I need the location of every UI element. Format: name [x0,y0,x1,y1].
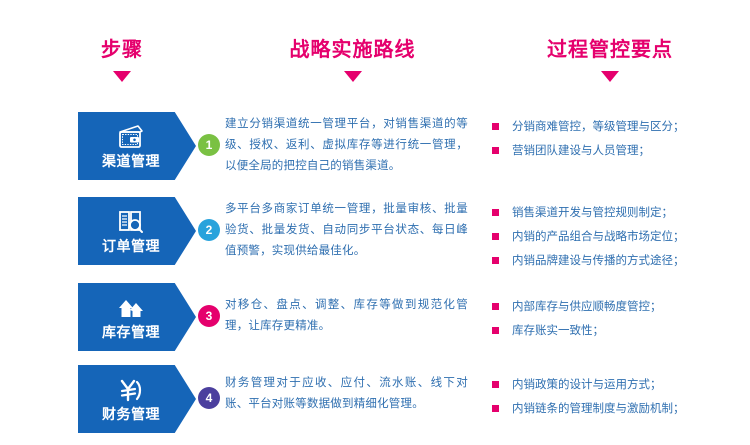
list-item-text: 内部库存与供应顺畅度管控； [512,301,662,313]
control-points-list: 内部库存与供应顺畅度管控； 库存账实一致性； [492,295,742,343]
list-item: 内销链条的管理制度与激励机制； [492,397,742,421]
step-number-badge: 3 [198,305,220,327]
step-box-finance[interactable]: 财务管理 [78,365,196,433]
list-item-text: 内销品牌建设与传播的方式途径； [512,255,685,267]
step-label: 财务管理 [102,406,160,422]
list-item: 分销商难管控，等级管理与区分； [492,115,742,139]
header-column-steps: 步骤 [62,38,182,82]
list-item-text: 销售渠道开发与管控规则制定； [512,207,673,219]
currency-yuan-icon [116,376,146,404]
step-box-inventory[interactable]: 库存管理 [78,283,196,351]
step-box-order[interactable]: 订单管理 [78,197,196,265]
square-bullet-icon [492,381,499,388]
step-number-badge: 1 [198,134,220,156]
list-item-text: 内销政策的设计与运用方式； [512,379,662,391]
square-bullet-icon [492,123,499,130]
warehouse-icon [116,294,146,322]
square-bullet-icon [492,303,499,310]
header-title-control: 过程管控要点 [480,38,740,62]
list-item-text: 库存账实一致性； [512,325,604,337]
caret-down-icon [344,71,362,82]
step-description: 多平台多商家订单统一管理，批量审核、批量验货、批量发货、自动同步平台状态、每日峰… [225,199,468,262]
step-label: 渠道管理 [102,153,160,169]
caret-down-icon [113,71,131,82]
control-points-list: 内销政策的设计与运用方式； 内销链条的管理制度与激励机制； [492,373,742,421]
list-item: 内销政策的设计与运用方式； [492,373,742,397]
header-title-route: 战略实施路线 [235,38,470,62]
column-headers: 步骤 战略实施路线 过程管控要点 [0,38,750,98]
book-search-icon [116,208,146,236]
list-item-text: 内销链条的管理制度与激励机制； [512,403,685,415]
step-number-badge: 2 [198,219,220,241]
process-row: 财务管理 4 财务管理对于应收、应付、流水账、线下对账、平台对账等数据做到精细化… [0,365,750,445]
step-label: 订单管理 [102,238,160,254]
square-bullet-icon [492,147,499,154]
header-column-control: 过程管控要点 [480,38,740,82]
caret-down-icon [601,71,619,82]
control-points-list: 销售渠道开发与管控规则制定； 内销的产品组合与战略市场定位； 内销品牌建设与传播… [492,201,742,273]
list-item-text: 分销商难管控，等级管理与区分； [512,121,685,133]
list-item: 内销的产品组合与战略市场定位； [492,225,742,249]
list-item: 内销品牌建设与传播的方式途径； [492,249,742,273]
header-title-steps: 步骤 [62,38,182,62]
list-item: 营销团队建设与人员管理； [492,139,742,163]
square-bullet-icon [492,257,499,264]
process-row: 库存管理 3 对移仓、盘点、调整、库存等做到规范化管理，让库存更精准。 内部库存… [0,283,750,363]
square-bullet-icon [492,209,499,216]
square-bullet-icon [492,405,499,412]
process-row: 渠道管理 1 建立分销渠道统一管理平台，对销售渠道的等级、授权、返利、虚拟库存等… [0,112,750,192]
square-bullet-icon [492,233,499,240]
list-item-text: 营销团队建设与人员管理； [512,145,650,157]
step-description: 对移仓、盘点、调整、库存等做到规范化管理，让库存更精准。 [225,295,468,337]
square-bullet-icon [492,327,499,334]
control-points-list: 分销商难管控，等级管理与区分； 营销团队建设与人员管理； [492,115,742,163]
list-item: 库存账实一致性； [492,319,742,343]
infographic-root: 步骤 战略实施路线 过程管控要点 渠道管理 [0,0,750,445]
list-item: 销售渠道开发与管控规则制定； [492,201,742,225]
process-row: 订单管理 2 多平台多商家订单统一管理，批量审核、批量验货、批量发货、自动同步平… [0,197,750,277]
wallet-icon [116,123,146,151]
step-box-channel[interactable]: 渠道管理 [78,112,196,180]
header-column-route: 战略实施路线 [235,38,470,82]
list-item-text: 内销的产品组合与战略市场定位； [512,231,685,243]
step-label: 库存管理 [102,324,160,340]
list-item: 内部库存与供应顺畅度管控； [492,295,742,319]
step-number-badge: 4 [198,387,220,409]
step-description: 建立分销渠道统一管理平台，对销售渠道的等级、授权、返利、虚拟库存等进行统一管理，… [225,114,468,177]
step-description: 财务管理对于应收、应付、流水账、线下对账、平台对账等数据做到精细化管理。 [225,373,468,415]
